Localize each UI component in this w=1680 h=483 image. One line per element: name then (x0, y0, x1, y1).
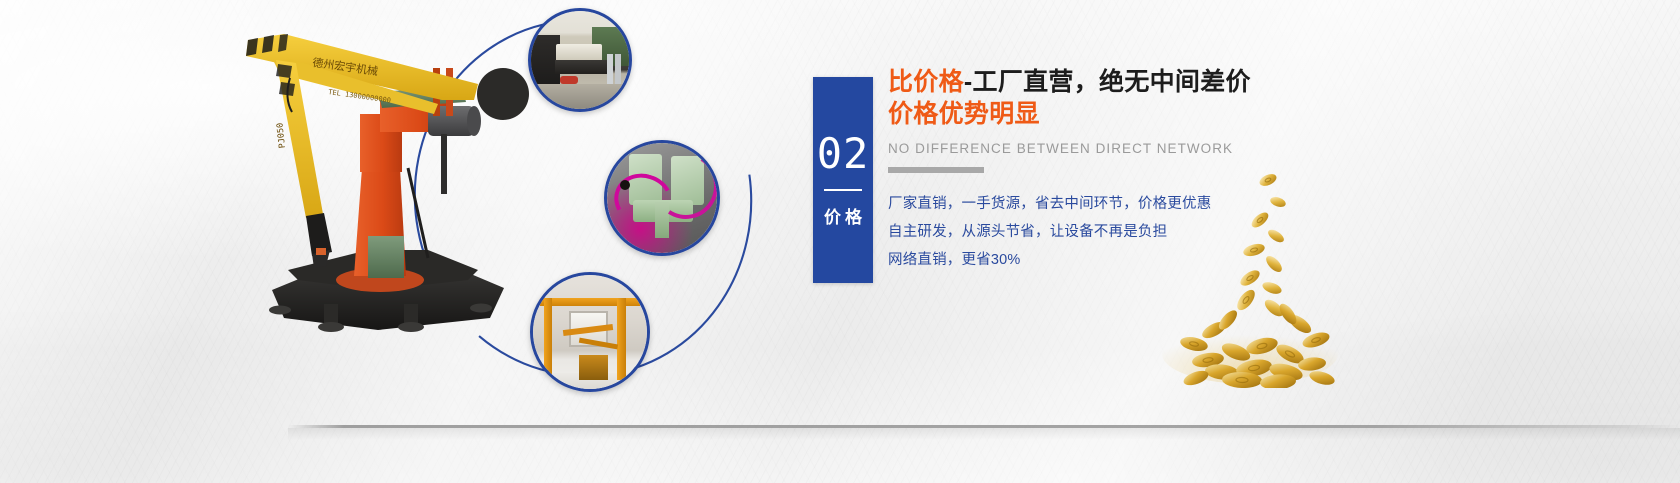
gold-coins-image (1150, 168, 1340, 388)
headline-line2: 价格优势明显 (888, 98, 1328, 132)
bottom-divider-shadow (288, 428, 1680, 440)
promo-banner: 德州宏宇机械 TEL 13000000000 PJ050 02 价格 (0, 0, 1680, 483)
accent-dot (477, 68, 529, 120)
headline-highlight: 比价格 (888, 68, 964, 96)
step-divider (824, 189, 862, 191)
circle-photo-valve-detail (604, 140, 720, 256)
step-label: 价格 (820, 203, 866, 228)
subtitle-english: NO DIFFERENCE BETWEEN DIRECT NETWORK (888, 141, 1328, 156)
step-number-box: 02 价格 (813, 77, 873, 283)
circle-photo-machine-shop (528, 8, 632, 112)
headline-line1: 比价格-工厂直营，绝无中间差价 (888, 66, 1328, 100)
circle-photo-gantry-workshop (530, 272, 650, 392)
crane-model-text: PJ050 (275, 122, 288, 148)
step-number: 02 (817, 133, 870, 175)
headline-rest: -工厂直营，绝无中间差价 (964, 68, 1251, 96)
accent-bar (888, 167, 984, 173)
manipulator-crane-image: 德州宏宇机械 TEL 13000000000 PJ050 (228, 18, 528, 348)
